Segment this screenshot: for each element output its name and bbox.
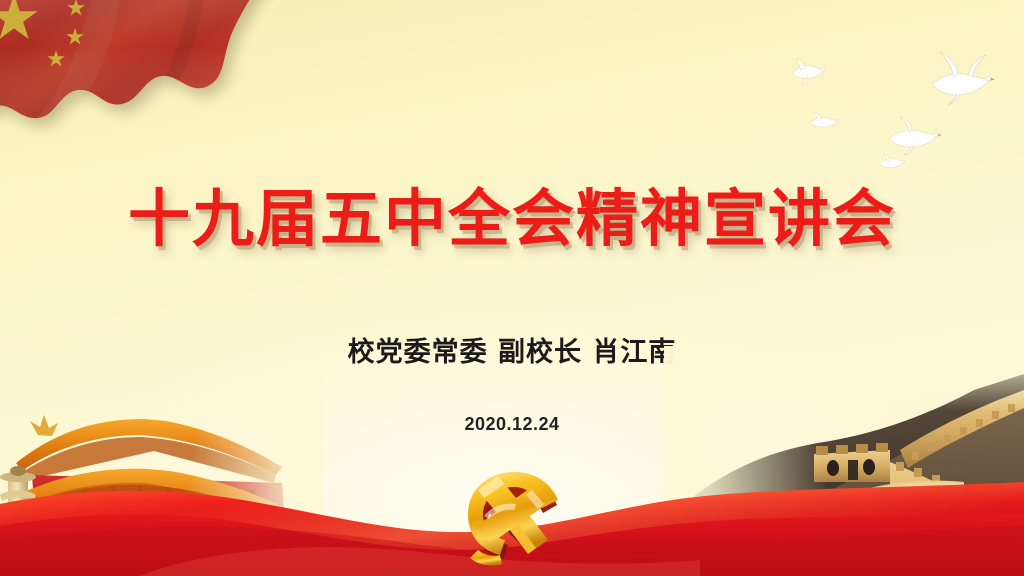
presentation-slide: 十九届五中全会精神宣讲会 校党委常委 副校长 肖江南 2020.12.24 xyxy=(0,0,1024,576)
cpc-party-emblem xyxy=(432,456,592,568)
dove-icon xyxy=(884,116,942,156)
dove-icon xyxy=(806,110,842,134)
dove-icon xyxy=(924,50,996,106)
chinese-national-flag xyxy=(0,0,272,146)
page-title: 十九届五中全会精神宣讲会 xyxy=(0,168,1024,258)
flag-shadow xyxy=(0,0,278,154)
dove-icon xyxy=(787,58,829,88)
party-emblem-graphic xyxy=(432,456,592,568)
